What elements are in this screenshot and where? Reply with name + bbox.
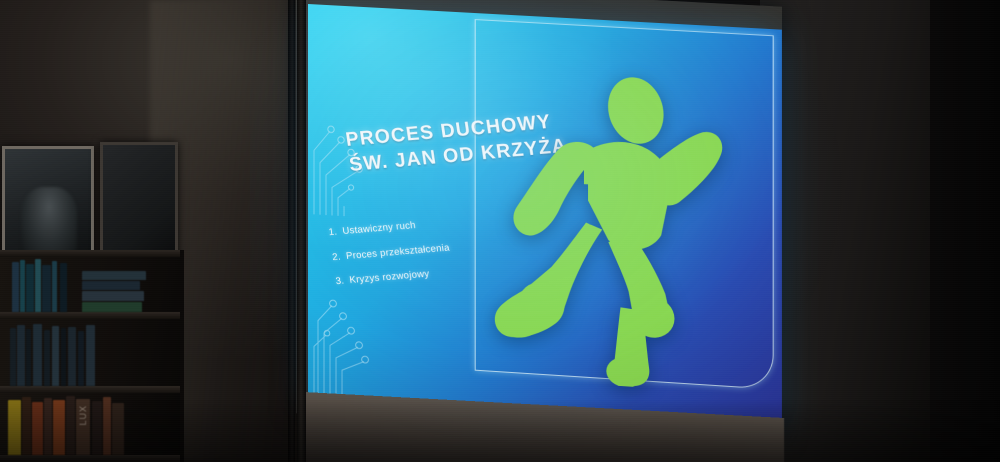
list-item-number: 3.	[335, 275, 347, 287]
book-spine	[26, 329, 31, 386]
book-spine	[52, 326, 59, 386]
book-spine	[42, 265, 51, 312]
book-stack	[82, 291, 144, 301]
shelf-board	[0, 250, 180, 257]
shelf-row	[4, 257, 176, 312]
book-spine	[78, 331, 84, 386]
book-stack	[82, 281, 140, 290]
list-item-label: Proces przekształcenia	[345, 242, 450, 262]
list-item: 3. Kryzys rozwojowy	[335, 266, 454, 287]
book-spine	[33, 324, 42, 386]
photo-scene: LUX	[0, 0, 1000, 462]
book-spine	[17, 325, 25, 386]
book-stack	[82, 271, 146, 280]
projector-screen-stand-rear	[288, 0, 295, 462]
list-item: 2. Proces przekształcenia	[332, 242, 451, 263]
book-spine	[44, 330, 50, 386]
shelf-board	[0, 312, 180, 319]
projected-slide: PROCES DUCHOWY ŚW. JAN OD KRZYŻA 1. Usta…	[308, 4, 782, 427]
list-item-label: Ustawiczny ruch	[342, 220, 417, 237]
circuit-trace-bottom-icon	[312, 286, 402, 402]
dark-artwork-frame	[100, 142, 178, 260]
shelf-row	[4, 319, 176, 386]
book-spine	[52, 261, 57, 312]
book-spine	[12, 262, 19, 312]
book-spine	[26, 264, 34, 312]
book-spine	[61, 328, 66, 386]
book-spine	[68, 327, 76, 386]
book-spine	[20, 260, 25, 312]
running-person-pictogram-icon	[491, 66, 745, 394]
book-spine	[10, 328, 16, 386]
list-item: 1. Ustawiczny ruch	[328, 217, 447, 238]
list-item-number: 1.	[328, 226, 340, 238]
book-spine	[60, 263, 67, 312]
floor-shadow	[0, 400, 1000, 462]
slide-bullet-list: 1. Ustawiczny ruch 2. Proces przekształc…	[328, 217, 456, 300]
portrait-photo-frame	[2, 146, 94, 256]
portrait-figure	[21, 187, 77, 253]
far-right-wall-shadow	[930, 0, 1000, 462]
slide-canvas: PROCES DUCHOWY ŚW. JAN OD KRZYŻA 1. Usta…	[308, 4, 782, 427]
projector-screen-stand	[297, 0, 306, 462]
book-stack	[82, 302, 142, 312]
list-item-label: Kryzys rozwojowy	[349, 268, 430, 286]
book-spine	[86, 325, 95, 386]
list-item-number: 2.	[332, 251, 344, 263]
book-spine	[35, 259, 41, 312]
shelf-board	[0, 386, 180, 393]
